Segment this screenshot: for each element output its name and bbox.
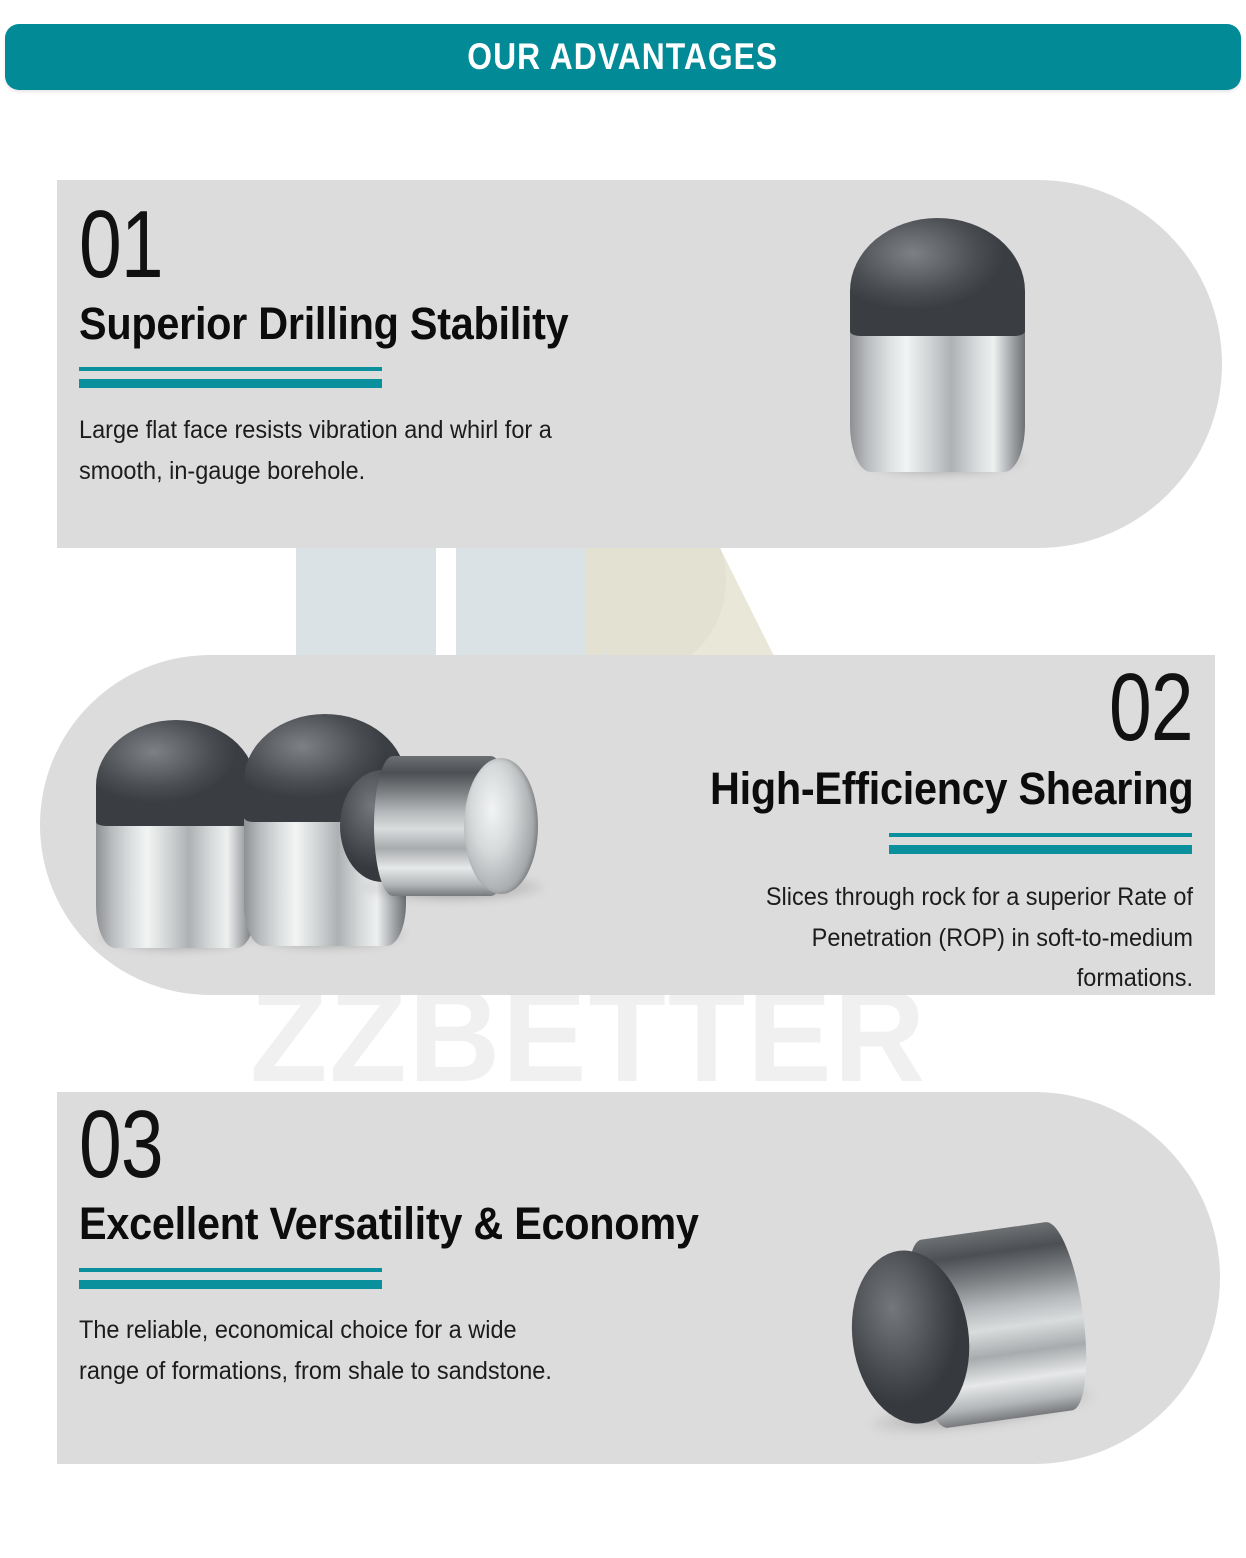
accent-rule-thick <box>889 845 1192 854</box>
card-title: Superior Drilling Stability <box>79 298 568 350</box>
product-photo-03 <box>852 1226 1112 1456</box>
title-accent-rules <box>79 367 382 388</box>
insert-lying <box>358 756 544 896</box>
insert-tilted <box>840 1219 1096 1439</box>
insert-carbide-dome <box>96 720 256 826</box>
section-header-banner: OUR ADVANTAGES <box>5 24 1241 90</box>
page-title: OUR ADVANTAGES <box>468 36 779 78</box>
card-body-text: The reliable, economical choice for a wi… <box>79 1310 568 1391</box>
card-title: High-Efficiency Shearing <box>710 763 1193 815</box>
insert-polished-face <box>464 758 538 894</box>
accent-rule-thick <box>79 1280 382 1289</box>
accent-rule-thin <box>79 367 382 371</box>
product-photo-02 <box>96 710 536 960</box>
card-number: 02 <box>1109 667 1193 750</box>
card-number: 03 <box>79 1104 163 1187</box>
insert-carbide-dome <box>850 218 1025 336</box>
product-photo-01 <box>840 218 1040 488</box>
accent-rule-thick <box>79 379 382 388</box>
card-body-text: Slices through rock for a superior Rate … <box>704 877 1193 999</box>
card-number: 01 <box>79 204 163 287</box>
title-accent-rules <box>79 1268 382 1289</box>
accent-rule-thin <box>79 1268 382 1272</box>
advantage-card-01: 01 Superior Drilling Stability Large fla… <box>57 180 1222 548</box>
accent-rule-thin <box>889 833 1192 837</box>
title-accent-rules <box>889 833 1192 854</box>
card-title: Excellent Versatility & Economy <box>79 1198 699 1250</box>
card-body-text: Large flat face resists vibration and wh… <box>79 410 568 491</box>
